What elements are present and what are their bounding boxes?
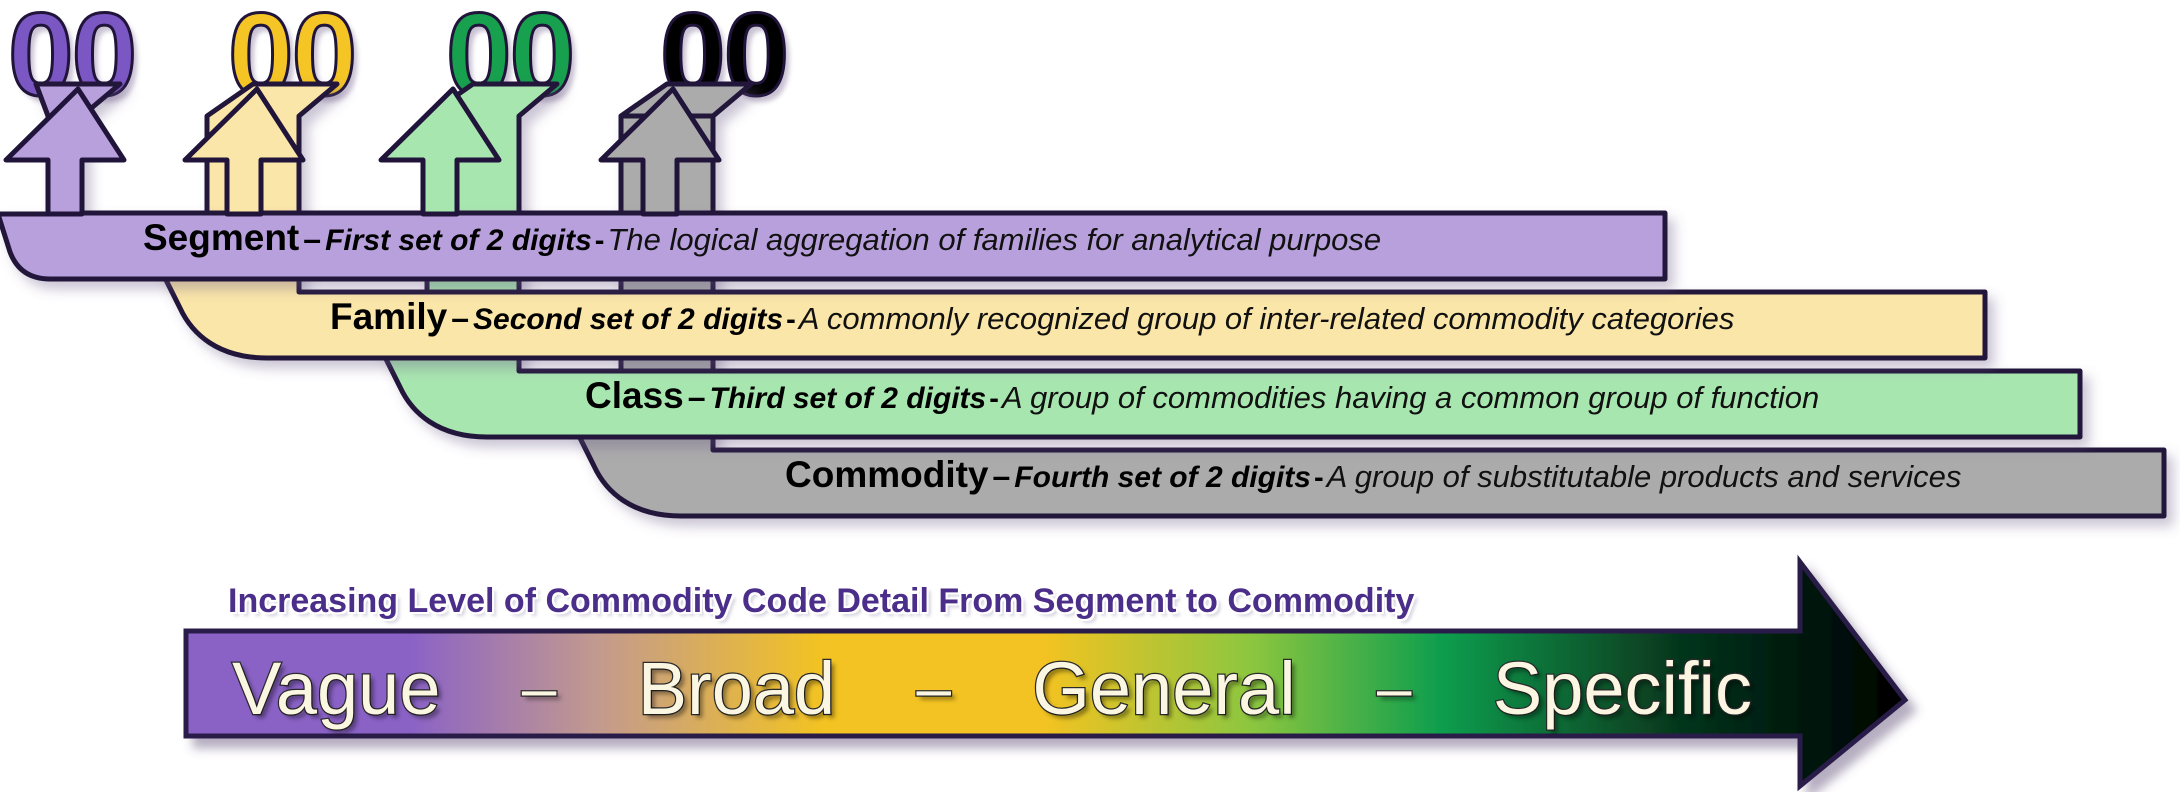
class-separator: - [986,383,1002,415]
segment-row-text: Segment–First set of 2 digits-The logica… [143,219,1381,256]
family-row-text: Family–Second set of 2 digits-A commonly… [330,298,1734,335]
class-row-text: Class–Third set of 2 digits-A group of c… [585,377,1819,414]
segment-label: Segment [143,217,299,258]
commodity-row-text: Commodity–Fourth set of 2 digits-A group… [785,456,1961,493]
infographic-canvas: 00 00 00 00 [0,0,2180,792]
arrow-heads [6,89,719,214]
class-digits-note: Third set of 2 digits [710,382,987,415]
segment-arrow-head [6,89,124,214]
commodity-label: Commodity [785,454,989,495]
segment-separator: - [592,225,608,257]
segment-description: The logical aggregation of families for … [607,222,1381,257]
class-description: A group of commodities having a common g… [1002,380,1819,415]
commodity-description: A group of substitutable products and se… [1327,459,1962,494]
segment-digits-note: First set of 2 digits [325,224,592,257]
family-dash: – [447,300,473,336]
commodity-digits-note: Fourth set of 2 digits [1014,461,1311,494]
family-separator: - [783,304,799,336]
family-digits-note: Second set of 2 digits [473,303,783,336]
family-description: A commonly recognized group of inter-rel… [799,301,1735,336]
family-label: Family [330,296,447,337]
class-dash: – [684,379,710,415]
class-label: Class [585,375,684,416]
segment-dash: – [299,221,325,257]
commodity-dash: – [989,458,1015,494]
increasing-detail-caption: Increasing Level of Commodity Code Detai… [228,582,1414,621]
commodity-separator: - [1311,462,1327,494]
